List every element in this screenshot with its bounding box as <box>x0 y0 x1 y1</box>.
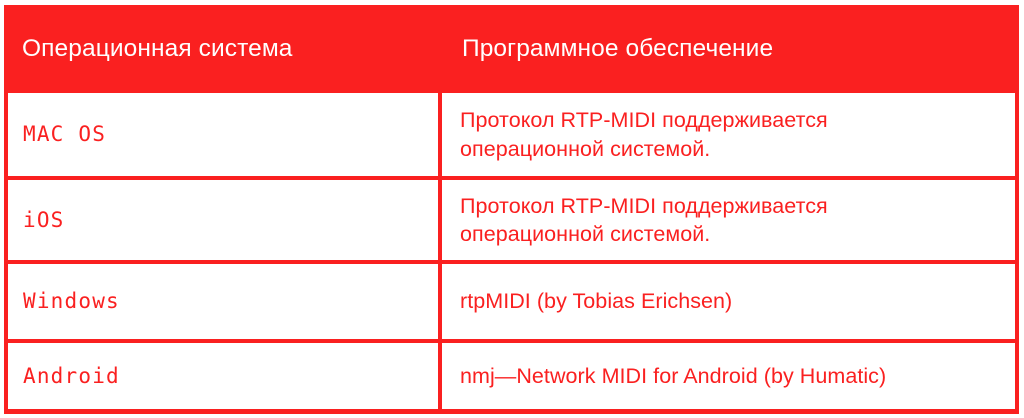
software-value-windows: rtpMIDI (by Tobias Erichsen) <box>460 287 732 315</box>
os-name-windows: Windows <box>23 288 120 314</box>
column-header-software: Программное обеспечение <box>462 34 773 63</box>
column-header-operating-system: Операционная система <box>22 34 293 63</box>
table-cell-software: Протокол RTP-MIDI поддерживается операци… <box>442 93 1015 176</box>
table-header-row: Операционная система Программное обеспеч… <box>4 5 1019 93</box>
table-header-cell-software: Программное обеспечение <box>442 5 1019 93</box>
table-row: iOS Протокол RTP-MIDI поддерживается опе… <box>8 180 1015 264</box>
table-body: MAC OS Протокол RTP-MIDI поддерживается … <box>4 93 1019 414</box>
table-row: MAC OS Протокол RTP-MIDI поддерживается … <box>8 93 1015 180</box>
software-value-ios: Протокол RTP-MIDI поддерживается операци… <box>460 192 828 249</box>
software-value-android: nmj—Network MIDI for Android (by Humatic… <box>460 362 886 390</box>
table-cell-os: Windows <box>8 264 442 339</box>
table-cell-software: rtpMIDI (by Tobias Erichsen) <box>442 264 1015 339</box>
table-cell-os: Android <box>8 343 442 409</box>
os-name-android: Android <box>23 363 120 389</box>
os-name-ios: iOS <box>23 207 65 233</box>
os-name-mac-os: MAC OS <box>23 121 106 147</box>
compatibility-table: Операционная система Программное обеспеч… <box>0 0 1024 418</box>
table-cell-os: iOS <box>8 180 442 260</box>
software-value-mac-os: Протокол RTP-MIDI поддерживается операци… <box>460 106 828 163</box>
table-row: Android nmj—Network MIDI for Android (by… <box>8 343 1015 409</box>
table-header-cell-os: Операционная система <box>4 5 442 93</box>
table-cell-software: Протокол RTP-MIDI поддерживается операци… <box>442 180 1015 260</box>
table-row: Windows rtpMIDI (by Tobias Erichsen) <box>8 264 1015 343</box>
table-cell-os: MAC OS <box>8 93 442 176</box>
table-cell-software: nmj—Network MIDI for Android (by Humatic… <box>442 343 1015 409</box>
